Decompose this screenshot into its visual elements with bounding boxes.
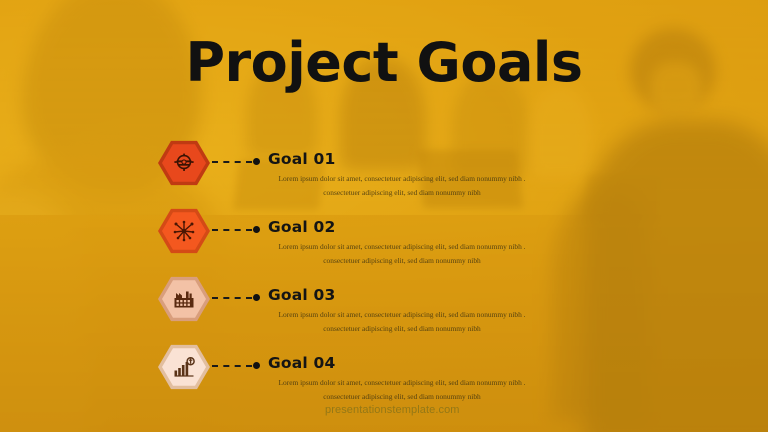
goal-2-label: Goal 02 (268, 218, 336, 236)
goal-3-description: Lorem ipsum dolor sit amet, consectetuer… (268, 308, 536, 335)
page-title: Project Goals (0, 36, 768, 90)
dashed-line (212, 365, 252, 367)
dashed-line (212, 297, 252, 299)
gears-settings-icon (172, 151, 196, 175)
network-nodes-icon (172, 219, 196, 243)
goal-3-connector (212, 296, 260, 300)
goal-3-hexagon-badge[interactable] (158, 276, 210, 322)
connector-dot (253, 158, 260, 165)
connector-dot (253, 294, 260, 301)
dashed-line (212, 229, 252, 231)
goal-4-hexagon-badge[interactable] (158, 344, 210, 390)
goal-1-connector (212, 160, 260, 164)
goals-list: Goal 01 Lorem ipsum dolor sit amet, cons… (158, 138, 558, 410)
bar-chart-growth-icon (172, 355, 196, 379)
goal-row: Goal 01 Lorem ipsum dolor sit amet, cons… (158, 138, 558, 206)
goal-row: Goal 02 Lorem ipsum dolor sit amet, cons… (158, 206, 558, 274)
goal-row: Goal 03 Lorem ipsum dolor sit amet, cons… (158, 274, 558, 342)
dashed-line (212, 161, 252, 163)
goal-4-connector (212, 364, 260, 368)
goal-1-description: Lorem ipsum dolor sit amet, consectetuer… (268, 172, 536, 199)
connector-dot (253, 362, 260, 369)
goal-2-connector (212, 228, 260, 232)
goal-1-hexagon-badge[interactable] (158, 140, 210, 186)
goal-4-description: Lorem ipsum dolor sit amet, consectetuer… (268, 376, 536, 403)
goal-2-description: Lorem ipsum dolor sit amet, consectetuer… (268, 240, 536, 267)
goal-2-hexagon-badge[interactable] (158, 208, 210, 254)
goal-row: Goal 04 Lorem ipsum dolor sit amet, cons… (158, 342, 558, 410)
goal-3-label: Goal 03 (268, 286, 336, 304)
connector-dot (253, 226, 260, 233)
slide-canvas: Project Goals (0, 0, 768, 432)
factory-building-icon (172, 287, 196, 311)
goal-4-label: Goal 04 (268, 354, 336, 372)
watermark: presentationstemplate.com (325, 404, 460, 416)
goal-1-label: Goal 01 (268, 150, 336, 168)
